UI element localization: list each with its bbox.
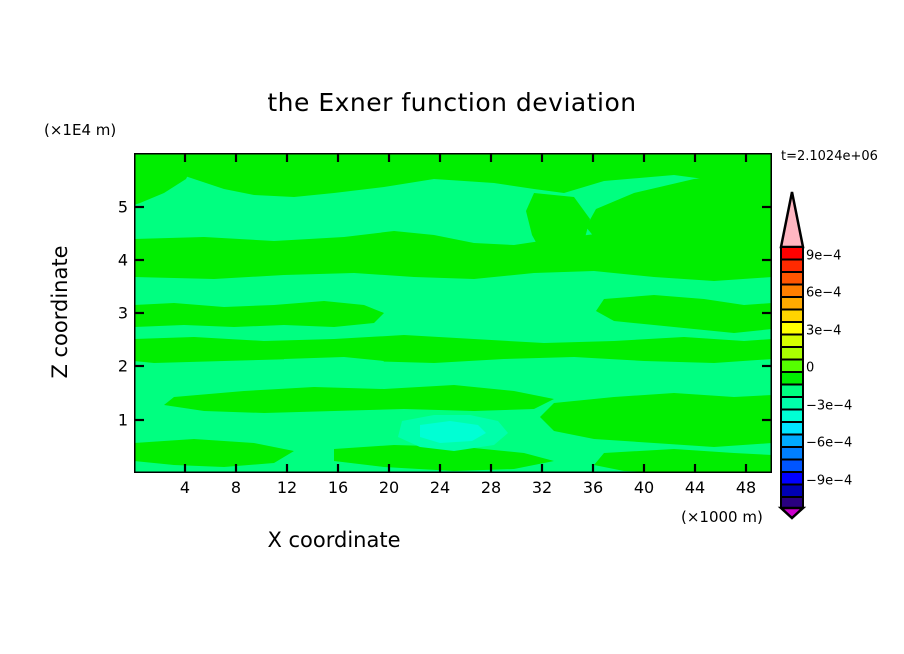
page-title: the Exner function deviation [0, 88, 904, 117]
x-axis-unit: (×1000 m) [681, 508, 763, 526]
y-tick-label: 2 [104, 357, 128, 376]
x-tick-label: 4 [180, 478, 190, 497]
x-tick-label: 36 [583, 478, 603, 497]
colorbar-tick-label: −6e−4 [806, 436, 852, 451]
x-axis-label: X coordinate [0, 528, 668, 552]
figure-canvas: the Exner function deviation (×1E4 m) t=… [0, 0, 904, 654]
colorbar-tick-label: 0 [806, 361, 814, 376]
colorbar [776, 190, 808, 520]
y-tick-label: 5 [104, 198, 128, 217]
x-tick-label: 12 [277, 478, 297, 497]
colorbar-tick-label: −3e−4 [806, 399, 852, 414]
x-tick-label: 24 [430, 478, 450, 497]
colorbar-tick-label: 6e−4 [806, 286, 841, 301]
y-tick-label: 1 [104, 411, 128, 430]
x-tick-label: 32 [532, 478, 552, 497]
y-axis-label: Z coordinate [48, 212, 72, 412]
colorbar-over-arrow [781, 192, 803, 247]
colorbar-tick-label: 3e−4 [806, 324, 841, 339]
x-tick-label: 8 [231, 478, 241, 497]
contour-plot [134, 153, 772, 473]
x-tick-label: 40 [634, 478, 654, 497]
colorbar-tick-label: −9e−4 [806, 474, 852, 489]
y-tick-label: 3 [104, 304, 128, 323]
timestamp-annotation: t=2.1024e+06 [781, 149, 878, 164]
x-tick-label: 28 [481, 478, 501, 497]
x-tick-label: 44 [685, 478, 705, 497]
y-axis-unit: (×1E4 m) [44, 121, 116, 139]
x-tick-label: 16 [328, 478, 348, 497]
colorbar-under-arrow [781, 508, 803, 518]
colorbar-bands [781, 247, 803, 508]
x-tick-label: 20 [379, 478, 399, 497]
x-tick-label: 48 [736, 478, 756, 497]
colorbar-tick-label: 9e−4 [806, 249, 841, 264]
y-tick-label: 4 [104, 251, 128, 270]
